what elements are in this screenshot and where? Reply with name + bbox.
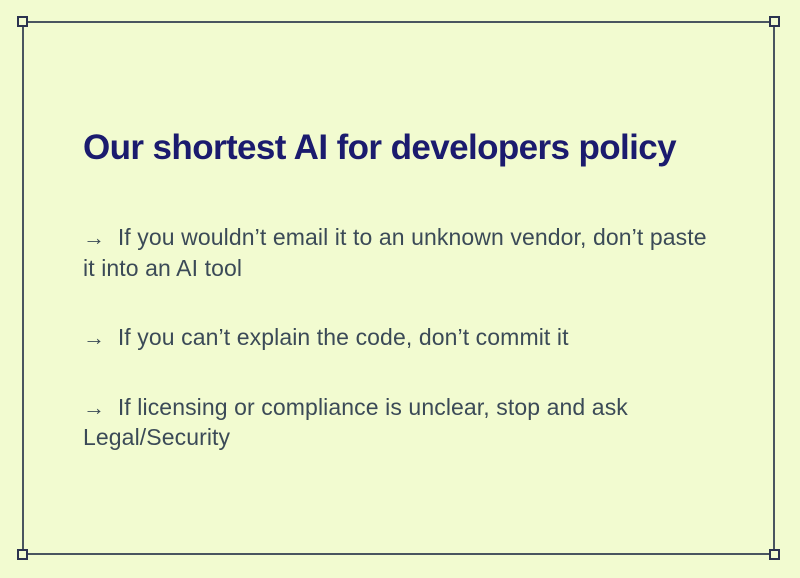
slide-content: Our shortest AI for developers policy → … (83, 0, 733, 578)
policy-bullet-3-text: If licensing or compliance is unclear, s… (83, 394, 628, 451)
frame-line-right (773, 21, 775, 555)
policy-bullet-2-text: If you can’t explain the code, don’t com… (118, 324, 569, 350)
policy-bullet-list: → If you wouldn’t email it to an unknown… (83, 222, 723, 453)
policy-bullet-1: → If you wouldn’t email it to an unknown… (83, 222, 723, 283)
frame-line-left (22, 21, 24, 555)
slide-canvas: Our shortest AI for developers policy → … (0, 0, 800, 578)
corner-marker-top-right (769, 16, 780, 27)
policy-bullet-2: → If you can’t explain the code, don’t c… (83, 322, 723, 353)
corner-marker-bottom-left (17, 549, 28, 560)
policy-bullet-1-text: If you wouldn’t email it to an unknown v… (83, 224, 707, 281)
corner-marker-top-left (17, 16, 28, 27)
arrow-right-icon: → (83, 395, 111, 420)
slide-title: Our shortest AI for developers policy (83, 128, 733, 167)
arrow-right-icon: → (83, 325, 111, 350)
policy-bullet-3: → If licensing or compliance is unclear,… (83, 392, 723, 453)
corner-marker-bottom-right (769, 549, 780, 560)
arrow-right-icon: → (83, 225, 111, 250)
